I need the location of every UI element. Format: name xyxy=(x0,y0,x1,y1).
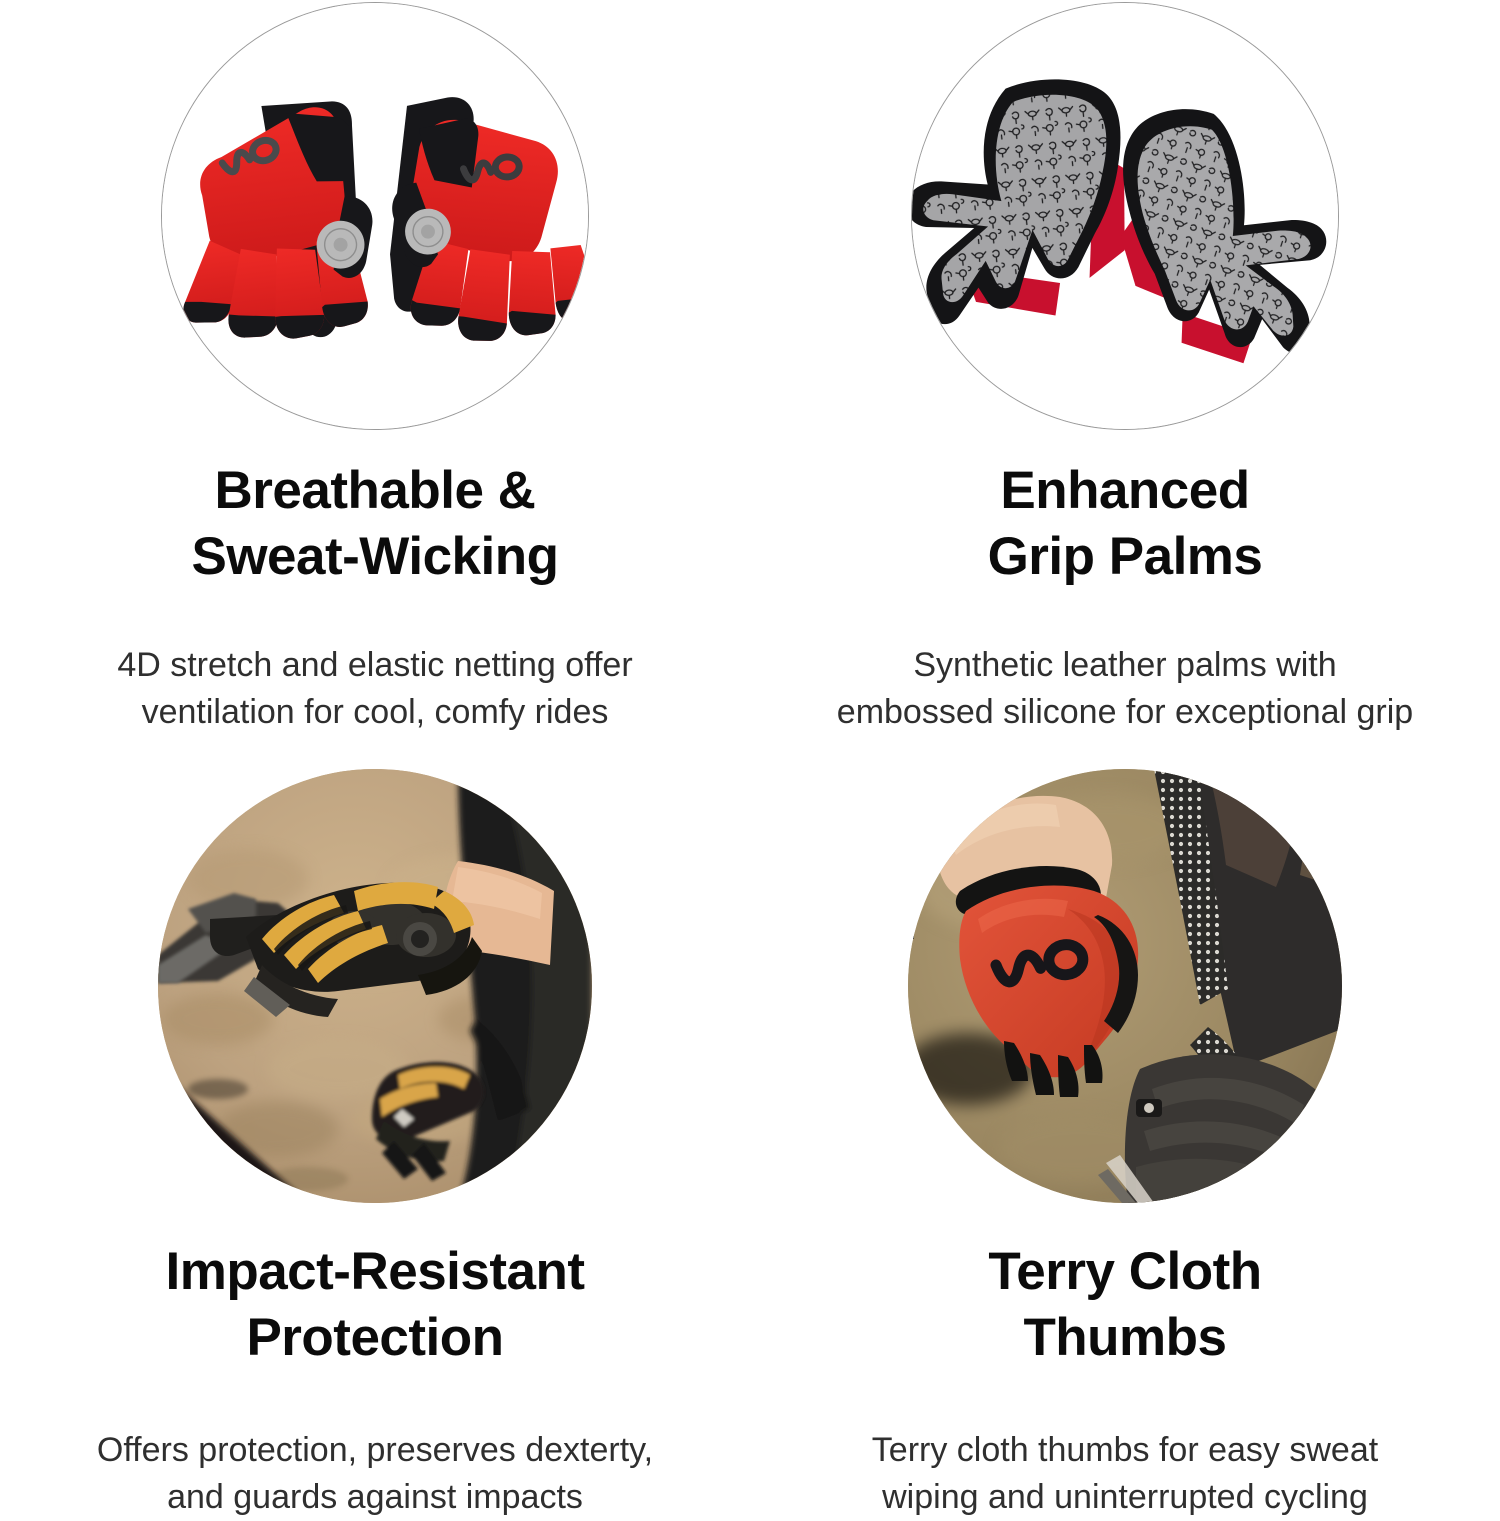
feature-description: Synthetic leather palms with embossed si… xyxy=(749,642,1500,736)
feature-description: Offers protection, preserves dexterty, a… xyxy=(19,1427,731,1521)
media-red-cycling-gloves-pair xyxy=(155,0,595,436)
feature-heading: Enhanced Grip Palms xyxy=(968,458,1283,590)
grey-palm-gloves-illustration xyxy=(912,3,1338,429)
feature-heading: Impact-Resistant Protection xyxy=(145,1239,604,1371)
circle-frame xyxy=(908,769,1342,1203)
circle-frame xyxy=(158,769,592,1203)
feature-heading: Terry Cloth Thumbs xyxy=(968,1239,1281,1371)
media-hand-on-handlebar-photo xyxy=(155,769,595,1209)
feature-card-enhanced-grip-palms: Enhanced Grip Palms Synthetic leather pa… xyxy=(750,0,1500,745)
media-red-glove-wiping-photo xyxy=(905,769,1345,1209)
feature-description: Terry cloth thumbs for easy sweat wiping… xyxy=(749,1427,1500,1521)
red-gloves-illustration xyxy=(162,3,588,429)
feature-heading: Breathable & Sweat-Wicking xyxy=(171,458,578,590)
circle-frame xyxy=(161,2,589,430)
feature-card-impact-resistant-protection: Impact-Resistant Protection Offers prote… xyxy=(0,745,750,1490)
terry-thumb-photo-illustration xyxy=(908,769,1342,1203)
feature-grid: Breathable & Sweat-Wicking 4D stretch an… xyxy=(0,0,1500,1490)
feature-description: 4D stretch and elastic netting offer ven… xyxy=(19,642,731,736)
circle-frame xyxy=(911,2,1339,430)
feature-card-breathable-sweat-wicking: Breathable & Sweat-Wicking 4D stretch an… xyxy=(0,0,750,745)
media-grey-palm-gloves-pair xyxy=(905,0,1345,436)
feature-card-terry-cloth-thumbs: Terry Cloth Thumbs Terry cloth thumbs fo… xyxy=(750,745,1500,1490)
handlebar-grip-photo-illustration xyxy=(158,769,592,1203)
